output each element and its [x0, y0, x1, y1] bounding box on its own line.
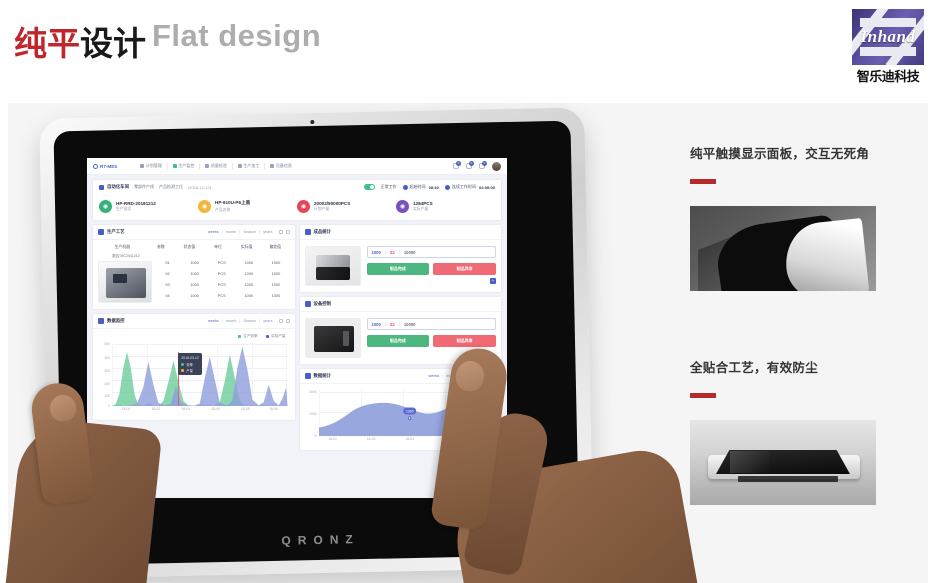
- legend-swatch-icon: [266, 335, 270, 339]
- process-card-title: 生产工艺: [107, 229, 125, 235]
- plan-icon: ◉: [297, 200, 310, 213]
- feature-column: 纯平触摸显示面板，交互无死角 全贴合工艺，有效防尘: [690, 143, 878, 505]
- value-sep: /: [385, 250, 386, 255]
- badge-count: 0: [469, 161, 474, 166]
- feature-item-lamination: 全贴合工艺，有效防尘: [690, 357, 878, 505]
- cell-param: 04: [154, 293, 181, 298]
- cell-unit: PCS: [208, 293, 235, 298]
- cell-unit: PCS: [208, 260, 235, 265]
- feature-image-panel: [690, 206, 876, 291]
- device-controls: 1000 / 22 / 10000 制品完成 制品异常: [367, 318, 497, 347]
- kpi-value: HP-910U-P6上盖: [215, 200, 250, 206]
- feature-rule: [690, 179, 716, 184]
- monitor-card-title: 数据监控: [107, 318, 125, 324]
- cell-dev: 1000: [262, 282, 289, 287]
- expand-icon[interactable]: [279, 230, 283, 234]
- value-total: 10000: [404, 322, 416, 327]
- logo-bar-icon: [860, 47, 916, 56]
- app-logo-icon: [93, 164, 98, 169]
- left-hand: [14, 383, 164, 583]
- device-card-header: 设备控制: [300, 297, 502, 312]
- nav-item-plan[interactable]: 计划管理: [135, 163, 168, 169]
- batch-icon: ◉: [99, 200, 112, 213]
- tab-weeks[interactable]: weeks: [205, 230, 223, 234]
- monitor-icon: [173, 164, 177, 168]
- cell-unit: PCS: [208, 282, 235, 287]
- table-rows: 01 1000 PCS 1000 1000 02 1: [154, 257, 290, 301]
- dashboard-navbar: RT-MES 计划管理 生产监控 质量检验 生产加工 设备信息 0 0 0: [87, 158, 507, 175]
- info-icon: [270, 164, 274, 168]
- start-time: 起始时间:08:30: [403, 184, 439, 190]
- x-tick: 18-01: [328, 437, 337, 441]
- chart-icon: [98, 318, 104, 324]
- finished-card-title: 成品统计: [314, 229, 332, 235]
- device-icon: [305, 301, 311, 307]
- kpi-row: ◉ HP-RRD-20181212生产批次 ◉ HP-910U-P6上盖产品名称…: [93, 194, 501, 220]
- x-tick: 18-04: [211, 407, 220, 411]
- y-tick: 300: [104, 369, 110, 373]
- status-panel: 自动化车间 零部件产线 产品检测工位 (2018-12-12) 正常工作 起始时…: [93, 180, 501, 220]
- finished-card-header: 成品统计: [300, 225, 502, 240]
- value-sep: /: [399, 250, 400, 255]
- company-logo: Inhand 智乐迪科技: [852, 9, 924, 85]
- x-tick: 18-03: [181, 407, 190, 411]
- cell-actual: 1000: [235, 260, 262, 265]
- machine-cell: 数控 MC2011212: [98, 254, 154, 303]
- kpi-label: 实际产量: [413, 207, 433, 212]
- stats-icon: [305, 373, 311, 379]
- kpi-value: 20002/50000PCS: [314, 201, 350, 206]
- logo-mark: Inhand: [852, 9, 924, 65]
- kpi-label: 产品名称: [215, 208, 250, 213]
- process-card: 生产工艺 weeks month Season years: [93, 225, 295, 309]
- legend-item-efficiency: 生产效率: [238, 334, 258, 339]
- feature-title: 纯平触摸显示面板，交互无死角: [690, 143, 878, 162]
- table-header-row: 生产机器 参数 状态值 单位 实际值 偏差值: [98, 244, 290, 254]
- value-sep: /: [399, 322, 400, 327]
- col-param: 参数: [147, 244, 176, 250]
- tooltip-row: 效率: [181, 362, 198, 367]
- feature-rule: [690, 393, 716, 398]
- finished-buttons: 制品完成 制品异常: [367, 263, 497, 275]
- cell-param: 01: [154, 260, 181, 265]
- monitor-card-tabs: weeks month Season years: [205, 319, 276, 323]
- nav-item-production[interactable]: 生产加工: [233, 163, 266, 169]
- logo-bar-icon: [860, 18, 916, 27]
- kpi-value: HP-RRD-20181212: [116, 201, 156, 206]
- tab-season[interactable]: Season: [240, 319, 260, 323]
- cell-state: 1000: [181, 293, 208, 298]
- kpi-batch: ◉ HP-RRD-20181212生产批次: [99, 200, 198, 213]
- process-card-header: 生产工艺 weeks month Season years: [93, 225, 295, 240]
- camera-icon: [310, 120, 314, 124]
- feature-image-tablet: [690, 420, 876, 505]
- x-tick: 18-06: [269, 407, 278, 411]
- card-actions: [279, 230, 290, 234]
- right-hand: [422, 353, 662, 583]
- value-defect: 22: [390, 322, 395, 327]
- kpi-output: ◉ 1284PCS实际产量: [396, 200, 495, 213]
- kpi-label: 生产批次: [116, 207, 156, 212]
- cell-param: 02: [154, 271, 181, 276]
- feature-item-panel: 纯平触摸显示面板，交互无死角: [690, 143, 878, 291]
- value-total: 10000: [404, 250, 416, 255]
- kpi-plan: ◉ 20002/50000PCS计划产量: [297, 200, 396, 213]
- tooltip-swatch-icon: [181, 369, 184, 372]
- value-defect: 22: [390, 250, 395, 255]
- cell-actual: 1000: [235, 271, 262, 276]
- y-tick: 1000: [309, 412, 317, 416]
- nav-item-monitor[interactable]: 生产监控: [168, 163, 201, 169]
- tooltip-row: 产量: [181, 368, 198, 373]
- table-row: 02 1000 PCS 1000 1000: [154, 268, 290, 279]
- logo-wordmark: Inhand: [852, 27, 924, 47]
- add-button[interactable]: +: [490, 278, 496, 284]
- work-status-toggle[interactable]: [364, 184, 375, 190]
- value-current: 1000: [372, 250, 381, 255]
- table-row: 03 1000 PCS 1000 1000: [154, 279, 290, 290]
- machine-image: [98, 261, 152, 303]
- nav-menu: 计划管理 生产监控 质量检验 生产加工 设备信息: [135, 163, 297, 169]
- check-icon: [205, 164, 209, 168]
- station-name: 产品检测工位: [159, 184, 183, 190]
- status-indicators: 正常工作 起始时间:08:30 连续工作时间:02:08:00: [364, 184, 496, 190]
- kpi-label: 计划产量: [314, 207, 350, 212]
- stats-annotation: 1300: [403, 408, 417, 415]
- x-tick: 18-02: [367, 437, 376, 441]
- feature-title: 全贴合工艺，有效防尘: [690, 357, 878, 376]
- more-icon[interactable]: [286, 319, 290, 323]
- grid-icon: [99, 185, 104, 190]
- app-logo-text: RT-MES: [100, 164, 117, 169]
- finished-body: 1000 / 22 / 10000 制品完成 制品异常: [300, 240, 502, 292]
- page-root: 纯平设计 Flat design Inhand 智乐迪科技 QRONZ: [0, 0, 936, 583]
- cell-state: 1000: [181, 271, 208, 276]
- app-logo: RT-MES: [93, 164, 117, 169]
- finished-card: 成品统计 1000 / 22 /: [300, 225, 502, 292]
- nav-item-label: 计划管理: [146, 163, 162, 169]
- y-tick: 2000: [309, 390, 317, 394]
- cell-actual: 1000: [235, 293, 262, 298]
- page-title-red: 纯平: [14, 25, 80, 62]
- status-date: (2018-12-12): [188, 185, 211, 190]
- tab-season[interactable]: Season: [240, 230, 260, 234]
- tab-month[interactable]: month: [223, 230, 241, 234]
- monitor-card-header: 数据监控 weeks month Season years: [93, 314, 295, 329]
- chart-legend: 生产效率 实际产量: [98, 334, 290, 339]
- x-tick: 18-03: [405, 437, 414, 441]
- legend-item-output: 实际产量: [266, 334, 286, 339]
- badge-count: 0: [456, 161, 461, 166]
- device-card-title: 设备控制: [314, 301, 332, 307]
- message-icon[interactable]: 0: [466, 163, 472, 169]
- gear-icon: [238, 164, 242, 168]
- tab-weeks[interactable]: weeks: [205, 319, 223, 323]
- cell-dev: 1000: [262, 293, 289, 298]
- cell-state: 1000: [181, 260, 208, 265]
- process-table: 生产机器 参数 状态值 单位 实际值 偏差值 数控 MC2011212: [93, 240, 295, 309]
- col-unit: 单位: [204, 244, 233, 250]
- kpi-product: ◉ HP-910U-P6上盖产品名称: [198, 200, 297, 213]
- box-icon: [305, 229, 311, 235]
- tablet-illustration: QRONZ RT-MES 计划管理 生产监控 质量检验 生产加工 设备信息: [22, 103, 682, 583]
- y-tick: 0: [315, 434, 317, 438]
- clock-icon: [403, 185, 408, 190]
- page-subtitle: Flat design: [152, 18, 321, 54]
- value-current: 1000: [372, 322, 381, 327]
- clipboard-icon: [140, 164, 144, 168]
- finished-controls: 1000 / 22 / 10000 制品完成 制品异常: [367, 246, 497, 284]
- cell-param: 03: [154, 282, 181, 287]
- duration-time: 连续工作时间:02:08:00: [445, 184, 495, 190]
- chart-tooltip: 2018-03-12 效率 产量: [178, 353, 201, 375]
- device-values[interactable]: 1000 / 22 / 10000: [367, 318, 497, 330]
- table-row: 01 1000 PCS 1000 1000: [154, 257, 290, 268]
- tab-years[interactable]: years: [260, 319, 275, 323]
- cell-state: 1000: [181, 282, 208, 287]
- nav-item-label: 生产加工: [243, 163, 259, 169]
- tab-month[interactable]: month: [223, 319, 241, 323]
- product-icon: ◉: [198, 200, 211, 213]
- workshop-name: 自动化车间: [107, 184, 129, 190]
- tablet-gloss-shape: [730, 451, 770, 473]
- cell-dev: 1000: [262, 271, 289, 276]
- tab-years[interactable]: years: [260, 230, 275, 234]
- alert-icon[interactable]: 0: [479, 163, 485, 169]
- device-image: [305, 318, 361, 358]
- finished-product-image: [305, 246, 361, 286]
- y-tick: 400: [104, 356, 110, 360]
- nav-item-label: 质量检验: [211, 163, 227, 169]
- cell-unit: PCS: [208, 271, 235, 276]
- notification-icon[interactable]: 0: [453, 163, 459, 169]
- output-icon: ◉: [396, 200, 409, 213]
- more-icon[interactable]: [286, 230, 290, 234]
- kpi-value: 1284PCS: [413, 201, 433, 206]
- stats-datapoint: [408, 416, 412, 420]
- page-header: 纯平设计 Flat design Inhand 智乐迪科技: [0, 0, 936, 96]
- stats-card-title: 数据统计: [314, 373, 332, 379]
- badge-count: 0: [482, 161, 487, 166]
- card-actions: [279, 319, 290, 323]
- col-dev: 偏差值: [261, 244, 290, 250]
- finished-values[interactable]: 1000 / 22 / 10000: [367, 246, 497, 258]
- process-icon: [98, 229, 104, 235]
- nav-actions: 0 0 0: [453, 162, 501, 171]
- content-stage: QRONZ RT-MES 计划管理 生产监控 质量检验 生产加工 设备信息: [8, 103, 928, 583]
- cell-dev: 1000: [262, 260, 289, 265]
- machine-label: 数控 MC2011212: [98, 254, 154, 259]
- avatar[interactable]: [492, 162, 501, 171]
- page-title: 纯平设计: [14, 17, 146, 65]
- finished-add-row: +: [367, 275, 497, 284]
- page-title-black: 设计: [80, 25, 146, 62]
- table-row: 04 1000 PCS 1000 1000: [154, 290, 290, 301]
- cell-actual: 1000: [235, 282, 262, 287]
- work-status-label: 正常工作: [381, 184, 397, 190]
- tooltip-date: 2018-03-12: [181, 356, 198, 360]
- legend-swatch-icon: [238, 335, 242, 339]
- x-tick: 18-05: [241, 407, 250, 411]
- complete-button[interactable]: 制品完成: [367, 335, 430, 347]
- defect-button[interactable]: 制品异常: [433, 335, 496, 347]
- col-state: 状态值: [175, 244, 204, 250]
- defect-button[interactable]: 制品异常: [433, 263, 496, 275]
- value-sep: /: [385, 322, 386, 327]
- y-axis: 2000 1000 0: [305, 389, 319, 445]
- line-name: 零部件产线: [134, 184, 154, 190]
- device-buttons: 制品完成 制品异常: [367, 335, 497, 347]
- tooltip-swatch-icon: [181, 363, 184, 366]
- tablet-shadow-shape: [738, 476, 838, 482]
- col-machine: 生产机器: [98, 244, 147, 250]
- y-tick: 500: [104, 342, 110, 346]
- nav-item-label: 生产监控: [178, 163, 194, 169]
- logo-company-name: 智乐迪科技: [852, 66, 924, 85]
- col-actual: 实际值: [232, 244, 261, 250]
- process-card-tabs: weeks month Season years: [205, 230, 276, 234]
- status-header: 自动化车间 零部件产线 产品检测工位 (2018-12-12) 正常工作 起始时…: [93, 180, 501, 194]
- nav-item-label: 设备信息: [276, 163, 292, 169]
- expand-icon[interactable]: [279, 319, 283, 323]
- timer-icon: [445, 185, 450, 190]
- table-body: 数控 MC2011212 01 1000 PCS 1000: [98, 254, 290, 303]
- complete-button[interactable]: 制品完成: [367, 263, 430, 275]
- nav-item-quality[interactable]: 质量检验: [200, 163, 233, 169]
- nav-item-device[interactable]: 设备信息: [265, 163, 297, 169]
